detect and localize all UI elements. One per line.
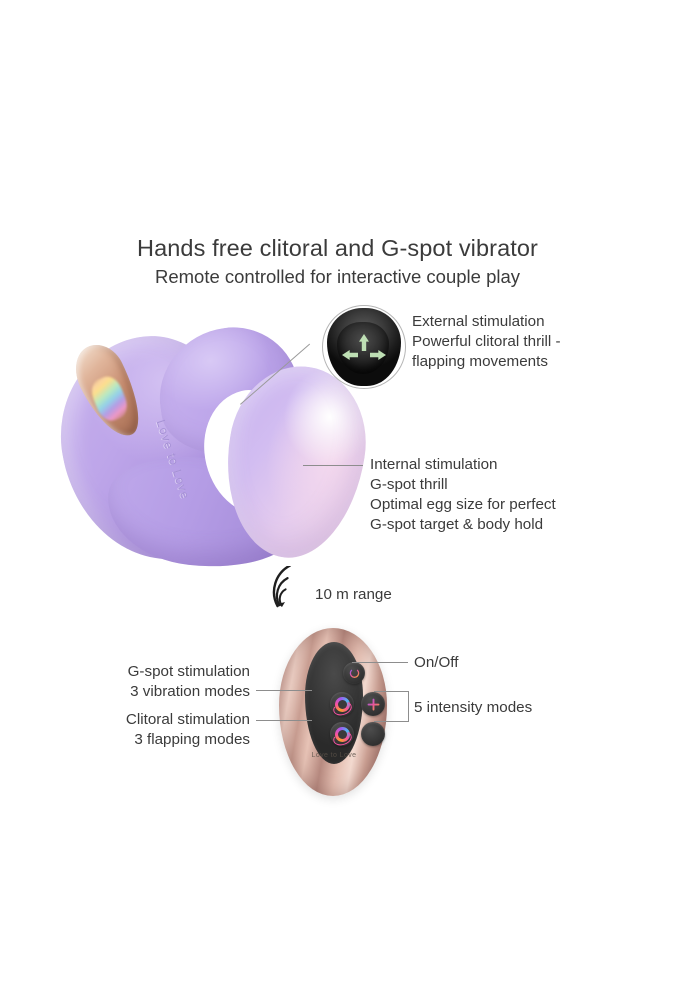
gspot-mode-button[interactable]: [330, 692, 354, 716]
intensity-down-button[interactable]: [361, 722, 385, 746]
leader-line-intensity-bottom: [374, 721, 408, 722]
wireless-range-icon: [262, 566, 314, 610]
leader-line-intensity-bracket: [408, 691, 409, 722]
callout-gspot-modes: G-spot stimulation 3 vibration modes: [80, 662, 250, 702]
remote-control: Love to Love: [279, 628, 387, 796]
leader-line-on-off: [352, 662, 408, 663]
page-subtitle: Remote controlled for interactive couple…: [0, 265, 675, 288]
leader-line-clitoral: [256, 720, 312, 721]
callout-range: 10 m range: [315, 585, 392, 605]
callout-external-stimulation: External stimulation Powerful clitoral t…: [412, 312, 622, 372]
swirl-icon: [335, 697, 350, 712]
leader-line-gspot: [256, 690, 312, 691]
callout-internal-stimulation: Internal stimulation G-spot thrill Optim…: [370, 455, 600, 535]
callout-clitoral-modes: Clitoral stimulation 3 flapping modes: [80, 710, 250, 750]
leader-line-intensity-top: [374, 691, 408, 692]
headline-block: Hands free clitoral and G-spot vibrator …: [0, 234, 675, 288]
product-infographic: Hands free clitoral and G-spot vibrator …: [0, 0, 675, 1000]
remote-brand-label: Love to Love: [305, 752, 363, 759]
intensity-up-button[interactable]: [361, 692, 385, 716]
leader-line-internal: [303, 465, 363, 466]
callout-on-off: On/Off: [414, 653, 458, 673]
clitoral-mode-button[interactable]: [330, 722, 354, 746]
page-title: Hands free clitoral and G-spot vibrator: [0, 234, 675, 262]
power-button[interactable]: [343, 662, 365, 684]
callout-intensity-modes: 5 intensity modes: [414, 698, 532, 718]
swirl-icon: [335, 727, 350, 742]
external-stimulation-detail-circle: [322, 305, 406, 389]
